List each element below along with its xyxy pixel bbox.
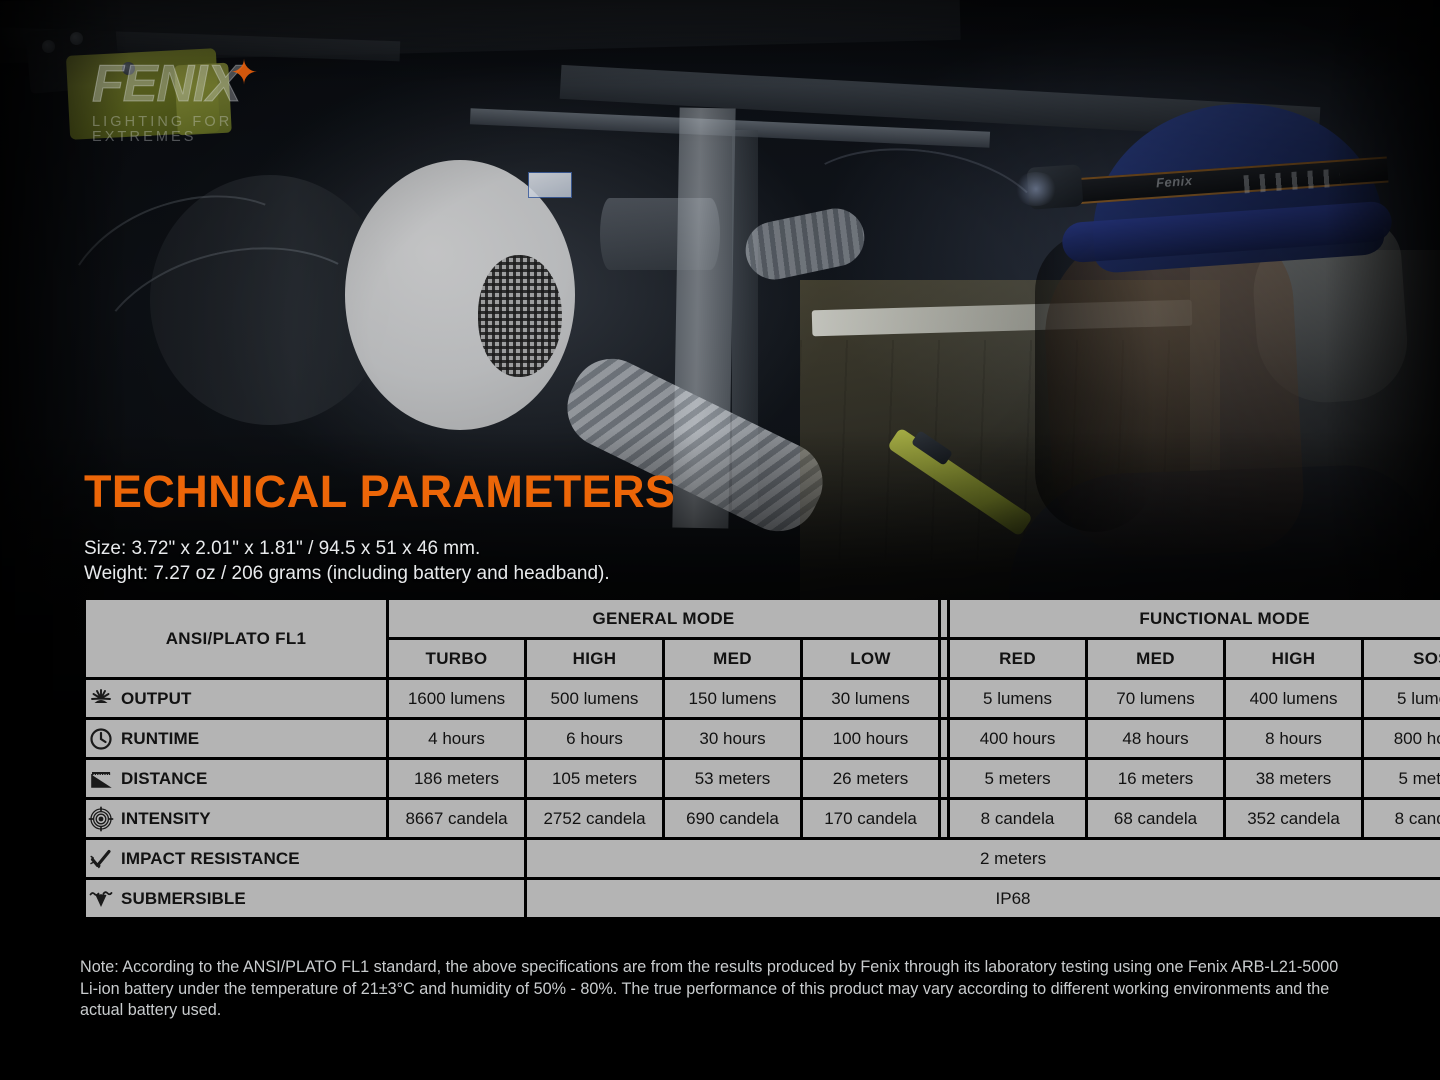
row-label-text: SUBMERSIBLE [121,890,246,907]
header-group-row: ANSI/PLATO FL1 GENERAL MODE FUNCTIONAL M… [86,600,1440,637]
mode-header-sos: SOS [1364,640,1440,677]
cell-intensity-high: 2752 candela [527,800,662,837]
cell-output-sos: 5 lumens [1364,680,1440,717]
cell-output-func-high: 400 lumens [1226,680,1361,717]
size-weight-block: Size: 3.72" x 2.01" x 1.81" / 94.5 x 51 … [84,536,610,586]
cell-runtime-func-high: 8 hours [1226,720,1361,757]
row-label-text: OUTPUT [121,690,191,707]
group-gap [941,640,947,677]
cell-intensity-turbo: 8667 candela [389,800,524,837]
cell-intensity-med: 690 candela [665,800,800,837]
cell-distance-turbo: 186 meters [389,760,524,797]
target-icon [88,806,114,832]
row-label-impact-resistance: IMPACT RESISTANCE [86,840,524,877]
row-label-distance: DISTANCE [86,760,386,797]
table-row: SUBMERSIBLE IP68 [86,880,1440,917]
mode-header-turbo: TURBO [389,640,524,677]
mode-header-func-med: MED [1088,640,1223,677]
cell-runtime-low: 100 hours [803,720,938,757]
cell-distance-func-high: 38 meters [1226,760,1361,797]
star-icon: ✦ [227,56,261,90]
table-row: IMPACT RESISTANCE 2 meters [86,840,1440,877]
cell-runtime-func-med: 48 hours [1088,720,1223,757]
footnote: Note: According to the ANSI/PLATO FL1 st… [80,957,1350,1022]
cell-distance-low: 26 meters [803,760,938,797]
row-label-text: RUNTIME [121,730,199,747]
logo-wordmark: FENIX [92,58,322,110]
cell-runtime-turbo: 4 hours [389,720,524,757]
cell-runtime-red: 400 hours [950,720,1085,757]
sunburst-icon [88,686,114,712]
row-label-intensity: INTENSITY [86,800,386,837]
cell-distance-high: 105 meters [527,760,662,797]
beam-distance-icon [88,766,114,792]
cell-output-turbo: 1600 lumens [389,680,524,717]
clock-icon [88,726,114,752]
mode-header-med: MED [665,640,800,677]
row-label-text: DISTANCE [121,770,207,787]
cell-runtime-med: 30 hours [665,720,800,757]
cell-runtime-sos: 800 hours [1364,720,1440,757]
functional-mode-header: FUNCTIONAL MODE [950,600,1440,637]
logo-tagline: LIGHTING FOR EXTREMES [92,115,322,144]
row-label-output: OUTPUT [86,680,386,717]
cell-output-med: 150 lumens [665,680,800,717]
row-label-text: IMPACT RESISTANCE [121,850,300,867]
cell-runtime-high: 6 hours [527,720,662,757]
table-row: RUNTIME 4 hours 6 hours 30 hours 100 hou… [86,720,1440,757]
cell-distance-func-med: 16 meters [1088,760,1223,797]
row-label-runtime: RUNTIME [86,720,386,757]
page-title: TECHNICAL PARAMETERS [84,469,675,514]
cell-output-low: 30 lumens [803,680,938,717]
table-row: DISTANCE 186 meters 105 meters 53 meters… [86,760,1440,797]
group-gap [941,800,947,837]
cell-impact-resistance-value: 2 meters [527,840,1440,877]
group-gap [941,680,947,717]
impact-check-icon [88,846,114,872]
group-gap [941,760,947,797]
weight-line: Weight: 7.27 oz / 206 grams (including b… [84,561,610,586]
group-gap [941,720,947,757]
fenix-logo: FENIX LIGHTING FOR EXTREMES ✦ [92,58,322,144]
size-line: Size: 3.72" x 2.01" x 1.81" / 94.5 x 51 … [84,536,610,561]
mode-header-red: RED [950,640,1085,677]
row-label-submersible: SUBMERSIBLE [86,880,524,917]
cell-intensity-sos: 8 candela [1364,800,1440,837]
spec-table: ANSI/PLATO FL1 GENERAL MODE FUNCTIONAL M… [83,597,1440,920]
product-spec-page: Fenix FENIX LIGHTING FOR EXTREMES ✦ TECH… [0,0,1440,1080]
spec-table-body: ANSI/PLATO FL1 GENERAL MODE FUNCTIONAL M… [86,600,1440,917]
cell-distance-red: 5 meters [950,760,1085,797]
cell-output-high: 500 lumens [527,680,662,717]
cell-intensity-func-high: 352 candela [1226,800,1361,837]
group-gap [941,600,947,637]
cell-intensity-red: 8 candela [950,800,1085,837]
cell-output-func-med: 70 lumens [1088,680,1223,717]
cell-distance-sos: 5 meters [1364,760,1440,797]
cell-output-red: 5 lumens [950,680,1085,717]
mode-header-high: HIGH [527,640,662,677]
table-row: INTENSITY 8667 candela 2752 candela 690 … [86,800,1440,837]
cell-intensity-func-med: 68 candela [1088,800,1223,837]
mode-header-func-high: HIGH [1226,640,1361,677]
ansi-plato-header: ANSI/PLATO FL1 [86,600,386,677]
mode-header-low: LOW [803,640,938,677]
cell-intensity-low: 170 candela [803,800,938,837]
cell-submersible-value: IP68 [527,880,1440,917]
water-drop-icon [88,886,114,912]
cell-distance-med: 53 meters [665,760,800,797]
general-mode-header: GENERAL MODE [389,600,938,637]
table-row: OUTPUT 1600 lumens 500 lumens 150 lumens… [86,680,1440,717]
spec-table-wrapper: ANSI/PLATO FL1 GENERAL MODE FUNCTIONAL M… [83,597,1340,920]
row-label-text: INTENSITY [121,810,211,827]
